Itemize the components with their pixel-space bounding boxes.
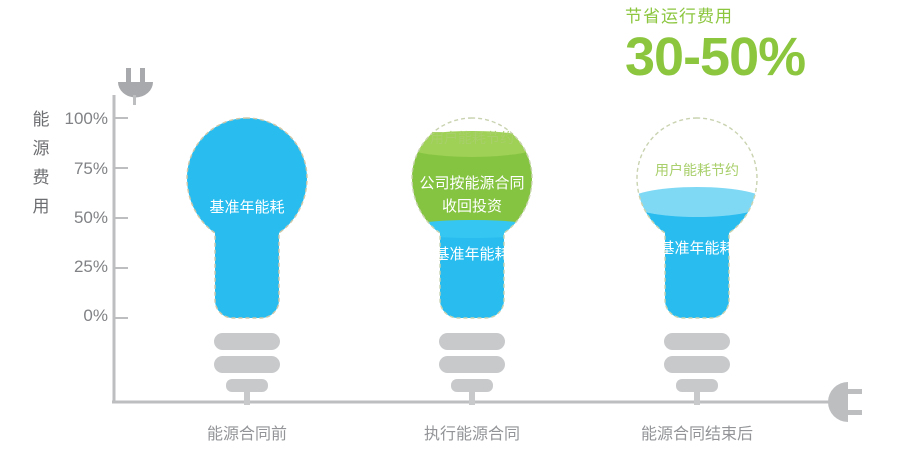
bulb2-blue-surface: [402, 220, 542, 238]
infographic-canvas: 节省运行费用 30-50% 能 源 费 用 100% 75% 50% 25% 0…: [0, 0, 900, 473]
chart-svg: [0, 0, 900, 473]
bulb3-base: [664, 333, 730, 405]
bulb3-segment-baseline: [630, 200, 765, 325]
bulb3-liquid-surface: [627, 187, 767, 217]
bulb-before-contract[interactable]: [180, 118, 315, 405]
bulb2-segment-baseline: [405, 228, 540, 323]
bulb-during-contract[interactable]: [402, 118, 542, 405]
bulb1-base: [214, 333, 280, 405]
bulb2-base: [439, 333, 505, 405]
power-socket-icon: [828, 382, 862, 422]
bulb-after-contract[interactable]: [627, 118, 767, 405]
plug-icon: [118, 68, 153, 105]
